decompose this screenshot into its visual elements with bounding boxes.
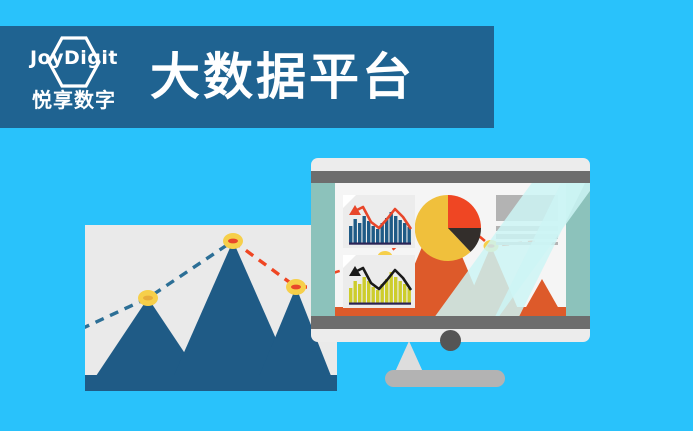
orange-mountain-base xyxy=(335,307,566,316)
pie-slice-red xyxy=(448,195,481,228)
poster-canvas: JoyDigit 悦享数字 大数据平台 xyxy=(0,0,693,431)
left-chart-panel xyxy=(85,225,337,391)
yellow-bar-chart xyxy=(343,255,415,308)
monitor-bottom-bezel xyxy=(311,316,590,329)
monitor xyxy=(311,158,590,342)
placeholder-row xyxy=(496,234,558,239)
monitor-top-bezel xyxy=(311,171,590,183)
blue-bar-chart xyxy=(343,195,415,248)
left-panel-mountain-chart xyxy=(85,225,337,391)
placeholder-header-block xyxy=(496,195,558,221)
page-title: 大数据平台 xyxy=(150,52,415,102)
monitor-screen xyxy=(311,183,590,316)
logo-wordmark: JoyDigit xyxy=(14,49,134,68)
monitor-stand-base xyxy=(385,370,505,387)
placeholder-row xyxy=(496,242,558,245)
chart-axis xyxy=(349,243,411,245)
logo-subtitle: 悦享数字 xyxy=(14,91,134,111)
dashboard-content xyxy=(335,183,566,316)
screen-side-panel-left xyxy=(311,183,335,316)
header-banner: JoyDigit 悦享数字 大数据平台 xyxy=(0,26,494,128)
placeholder-row xyxy=(496,226,558,231)
doc-card-yellow-bar-chart xyxy=(343,255,415,308)
monitor-home-button[interactable] xyxy=(440,330,461,351)
pie-chart xyxy=(413,193,483,263)
placeholder-text-block xyxy=(496,195,558,245)
brand-logo[interactable]: JoyDigit 悦享数字 xyxy=(14,29,134,125)
monitor-stand-neck xyxy=(395,341,423,372)
screen-side-panel-right xyxy=(566,183,590,316)
chart-axis xyxy=(349,303,411,305)
mountain-shape-base xyxy=(85,375,337,391)
doc-card-blue-bar-chart xyxy=(343,195,415,248)
